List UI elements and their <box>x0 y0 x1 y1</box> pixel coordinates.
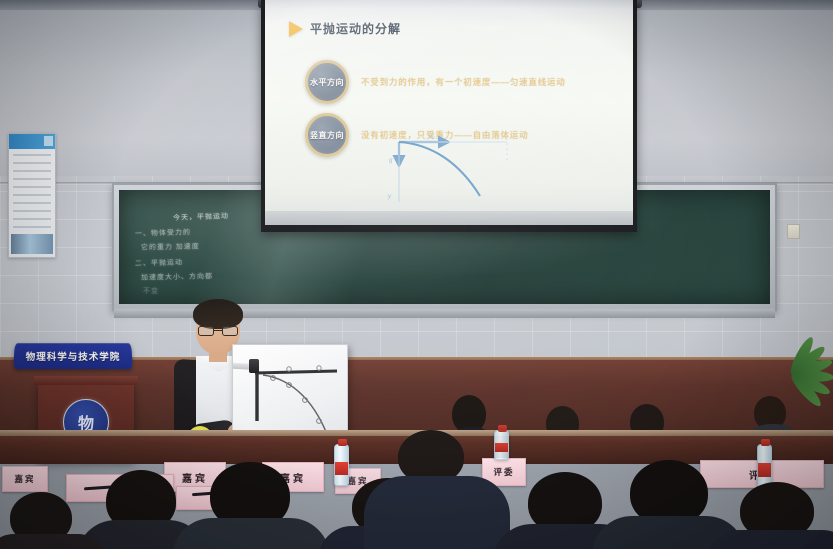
department-banner-label: 物理科学与技术学院 <box>25 349 120 363</box>
slide-title: 平抛运动的分解 <box>310 20 401 37</box>
water-bottle-icon <box>494 430 509 460</box>
presenter-hair <box>193 299 243 329</box>
audience-person-foreground <box>186 462 316 549</box>
chalk-line: 二、平抛运动 <box>135 257 183 269</box>
audience-person-foreground <box>380 430 490 549</box>
triangle-bullet-icon <box>289 21 303 37</box>
circle-tag-vertical: 竖直方向 <box>305 113 349 157</box>
diagram-y-label: y <box>388 194 391 200</box>
poster-text-lines <box>13 154 51 231</box>
slide-row-horizontal: 水平方向 不受到力的作用，有一个初速度——匀速直线运动 <box>305 60 566 104</box>
slide-content: 平抛运动的分解 水平方向 不受到力的作用，有一个初速度——匀速直线运动 竖直方向… <box>265 8 633 211</box>
department-banner: 物理科学与技术学院 <box>13 343 132 369</box>
diagram-x-label: v₀ <box>429 134 435 140</box>
glasses-icon <box>198 326 238 336</box>
projectile-diagram: v₀ g y <box>385 136 565 208</box>
lectern-top <box>34 376 138 385</box>
slide-row-text: 不受到力的作用，有一个初速度——匀速直线运动 <box>361 76 566 88</box>
slide-title-row: 平抛运动的分解 <box>289 20 401 37</box>
person-shoulders <box>0 534 108 549</box>
poster-header-band <box>9 134 55 149</box>
chalk-line: 它的重力 加速度 <box>141 241 200 253</box>
circle-tag-horizontal: 水平方向 <box>305 60 349 104</box>
poster-footer-image <box>11 234 53 254</box>
circle-tag-label: 竖直方向 <box>310 130 344 141</box>
audience-person-foreground <box>716 482 833 549</box>
screen-lower-edge <box>265 211 633 225</box>
audience-person-foreground <box>604 460 732 549</box>
person-shoulders <box>706 530 833 549</box>
wall-poster <box>8 133 56 258</box>
person-shoulders <box>364 476 510 549</box>
chalk-line: 加速度大小、方向都 <box>141 271 213 283</box>
chalk-line: 今天，平抛运动 <box>173 211 229 224</box>
projectile-diagram-svg <box>385 136 565 208</box>
classroom-photo: 今天，平抛运动 一、物体受力的 它的重力 加速度 二、平抛运动 加速度大小、方向… <box>0 0 833 549</box>
audience-person-foreground <box>0 492 96 549</box>
chalk-line: 不变 <box>143 286 159 297</box>
person-shoulders <box>172 518 330 549</box>
projection-screen-border: 平抛运动的分解 水平方向 不受到力的作用，有一个初速度——匀速直线运动 竖直方向… <box>261 0 637 232</box>
circle-tag-label: 水平方向 <box>310 77 344 88</box>
demo-board-clamp <box>249 359 259 373</box>
potted-plant-icon <box>762 290 833 380</box>
name-card-label: 嘉宾 <box>14 473 35 485</box>
projection-screen: 平抛运动的分解 水平方向 不受到力的作用，有一个初速度——匀速直线运动 竖直方向… <box>265 0 633 225</box>
diagram-g-label: g <box>389 158 392 164</box>
chalk-line: 一、物体受力的 <box>135 227 191 239</box>
wall-socket-icon <box>787 224 800 239</box>
name-card: 嘉宾 <box>2 466 48 492</box>
